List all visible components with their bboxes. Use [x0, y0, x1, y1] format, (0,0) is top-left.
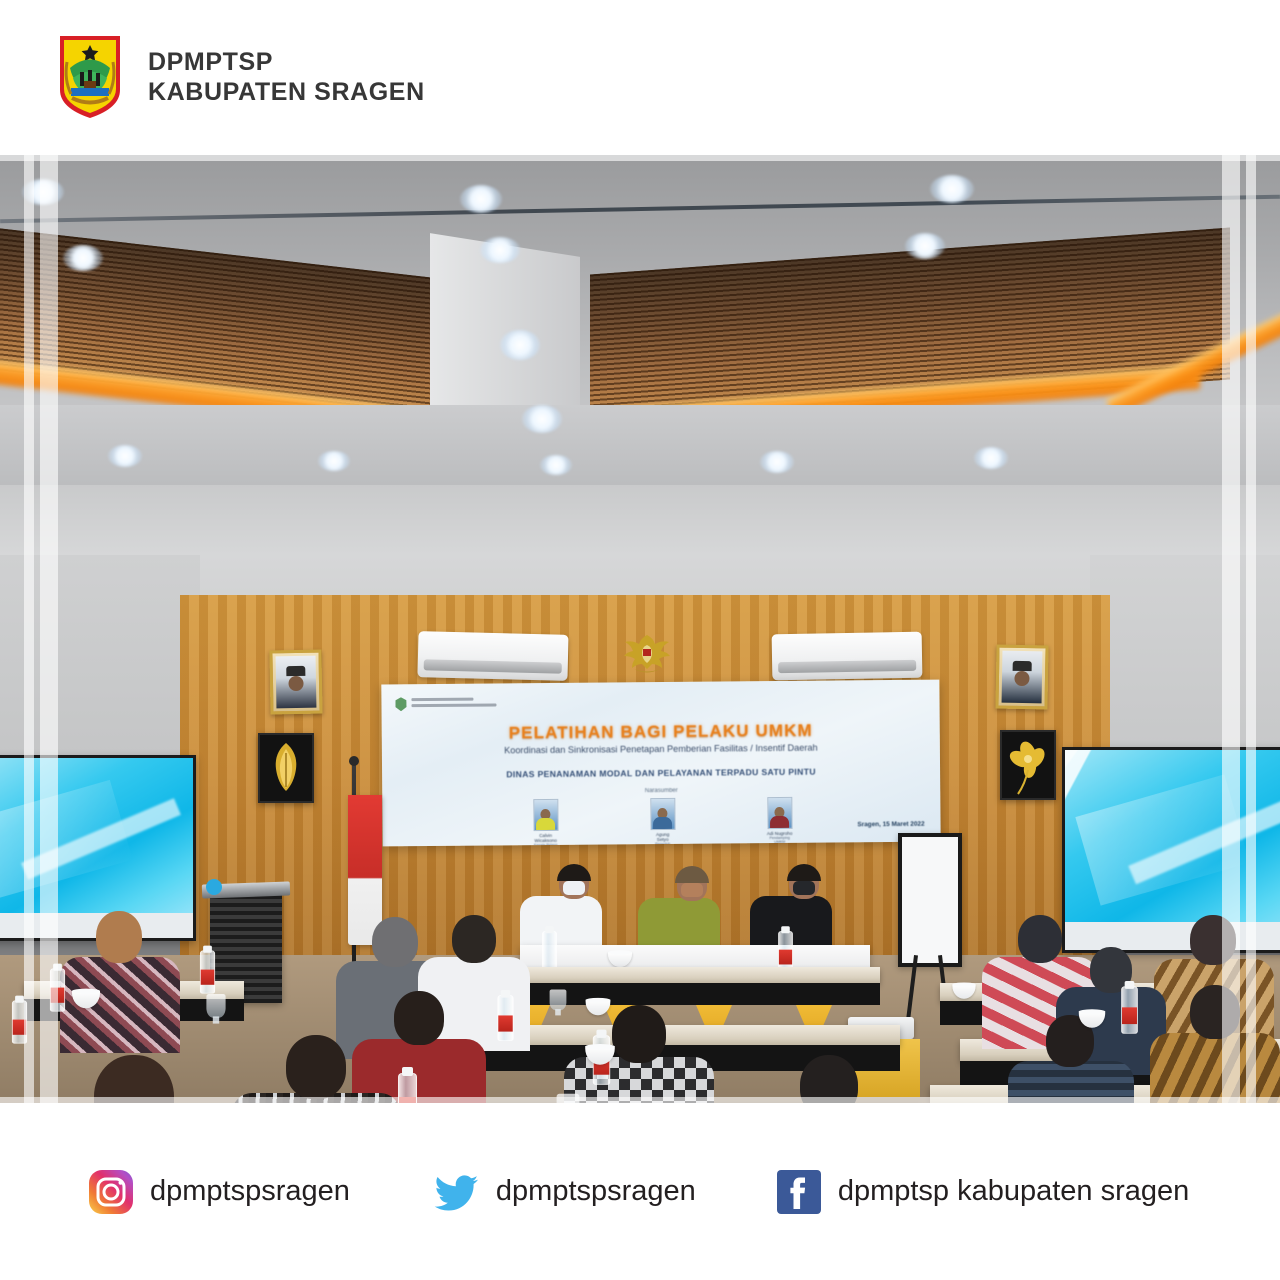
- gold-batik-artwork-icon: [258, 733, 314, 803]
- attendee-head: [394, 991, 444, 1045]
- twitter-account[interactable]: dpmptspsragen: [434, 1169, 696, 1215]
- water-bottle: [50, 968, 65, 1011]
- yellow-flower-batik-artwork-icon: [1000, 730, 1056, 800]
- bottle-label: [1122, 1007, 1137, 1024]
- panelist-hair: [557, 864, 591, 881]
- speaker-photo: [650, 798, 675, 830]
- drinking-glass: [557, 1094, 580, 1103]
- bottle-label: [13, 1020, 27, 1035]
- attendee-head: [94, 1055, 174, 1103]
- speaker-name: Calvin Wicaksono: [533, 833, 559, 843]
- twitter-handle: dpmptspsragen: [496, 1175, 696, 1208]
- drinking-glass: [550, 990, 567, 1011]
- bottle-label: [201, 970, 215, 985]
- event-banner: PELATIHAN BAGI PELAKU UMKM Koordinasi da…: [381, 680, 940, 847]
- downlight-icon: [930, 175, 974, 203]
- attendee: [612, 1005, 714, 1103]
- panelist-hair: [787, 864, 821, 881]
- downlight-icon: [760, 451, 794, 473]
- instagram-handle: dpmptspsragen: [150, 1175, 350, 1208]
- social-footer: dpmptspsragen dpmptspsragen dpmptsp kabu…: [0, 1103, 1280, 1280]
- attendee: [94, 1055, 254, 1103]
- face-mask-icon: [563, 881, 585, 895]
- bottle-label: [51, 988, 65, 1003]
- facebook-account[interactable]: dpmptsp kabupaten sragen: [776, 1169, 1189, 1215]
- banner-govt-logo: [395, 694, 515, 713]
- attendee-body: [1008, 1061, 1134, 1103]
- water-bottle: [200, 950, 215, 993]
- face-mask-icon: [793, 881, 815, 895]
- page-header: DPMPTSP KABUPATEN SRAGEN: [0, 0, 1280, 155]
- attendee-head: [800, 1055, 858, 1103]
- facebook-icon: [776, 1169, 822, 1215]
- downlight-icon: [63, 245, 103, 271]
- downlight-icon: [480, 237, 520, 263]
- attendee: [1190, 985, 1280, 1103]
- org-name-line1: DPMPTSP: [148, 48, 425, 78]
- downlight-icon: [460, 185, 502, 213]
- panelist-head: [559, 867, 589, 899]
- downlight-icon: [540, 455, 572, 475]
- attendee-head: [372, 917, 418, 967]
- instagram-account[interactable]: dpmptspsragen: [88, 1169, 350, 1215]
- air-conditioner-icon: [417, 631, 568, 681]
- org-name-line2: KABUPATEN SRAGEN: [148, 78, 425, 108]
- downlight-icon: [522, 405, 562, 433]
- banner-logo-text: [411, 697, 515, 710]
- banner-place-date: Sragen, 15 Maret 2022: [857, 821, 924, 829]
- facebook-handle: dpmptsp kabupaten sragen: [838, 1175, 1189, 1208]
- attendee-body: [1150, 1033, 1280, 1103]
- water-bottle: [12, 1000, 27, 1043]
- banner-speaker-list: Calvin Wicaksono Kepala Bidang Penanaman…: [532, 797, 792, 845]
- attendee-body: [564, 1057, 714, 1103]
- attendee-head: [452, 915, 496, 963]
- speaker-name: Agung Setyo: [650, 832, 676, 842]
- water-bottle: [398, 1073, 417, 1103]
- banner-speaker: Calvin Wicaksono Kepala Bidang Penanaman…: [532, 799, 558, 845]
- bottle-label: [498, 1015, 512, 1031]
- vice-president-portrait-icon: [995, 645, 1048, 710]
- umkm-training-seminar-room-photo: PELATIHAN BAGI PELAKU UMKM Koordinasi da…: [0, 155, 1280, 1103]
- water-bottle: [1121, 986, 1138, 1034]
- org-name: DPMPTSP KABUPATEN SRAGEN: [148, 48, 425, 107]
- attendee-head: [1190, 985, 1240, 1039]
- bottle-label: [779, 950, 792, 965]
- instagram-icon: [88, 1169, 134, 1215]
- downlight-icon: [22, 179, 64, 205]
- air-conditioner-icon: [772, 632, 923, 681]
- banner-logo-shield-icon: [395, 697, 406, 711]
- garuda-pancasila-emblem-icon: [618, 627, 676, 683]
- attendee-head: [96, 911, 142, 963]
- president-portrait-icon: [269, 650, 322, 715]
- panelist-head: [677, 869, 707, 901]
- attendee-head: [612, 1005, 666, 1063]
- downlight-icon: [905, 233, 945, 259]
- attendee-head: [1018, 915, 1062, 963]
- microphone-icon: [206, 879, 222, 895]
- face-mask-icon: [681, 883, 703, 897]
- downlight-icon: [108, 445, 142, 467]
- panelist-hair: [675, 866, 709, 883]
- attendee: [286, 1035, 400, 1103]
- banner-speaker: Adi Nugroho Pendamping UMKM Kabupaten: [766, 797, 792, 843]
- flipchart-easel: [898, 833, 962, 967]
- twitter-icon: [434, 1169, 480, 1215]
- downlight-icon: [974, 447, 1008, 469]
- attendee: [96, 911, 180, 1053]
- banner-speaker: Agung Setyo Penyuluh Pelaku Usaha: [649, 798, 675, 844]
- panelist-head: [789, 867, 819, 899]
- water-bottle: [497, 995, 513, 1041]
- sragen-regency-crest-icon: [56, 32, 124, 120]
- speaker-photo: [767, 797, 792, 829]
- drinking-glass: [206, 994, 225, 1018]
- downlight-icon: [318, 451, 350, 471]
- attendee-head: [1190, 915, 1236, 965]
- speaker-photo: [533, 799, 558, 831]
- attendee: [800, 1055, 910, 1103]
- attendee-head: [286, 1035, 346, 1099]
- downlight-icon: [500, 330, 540, 360]
